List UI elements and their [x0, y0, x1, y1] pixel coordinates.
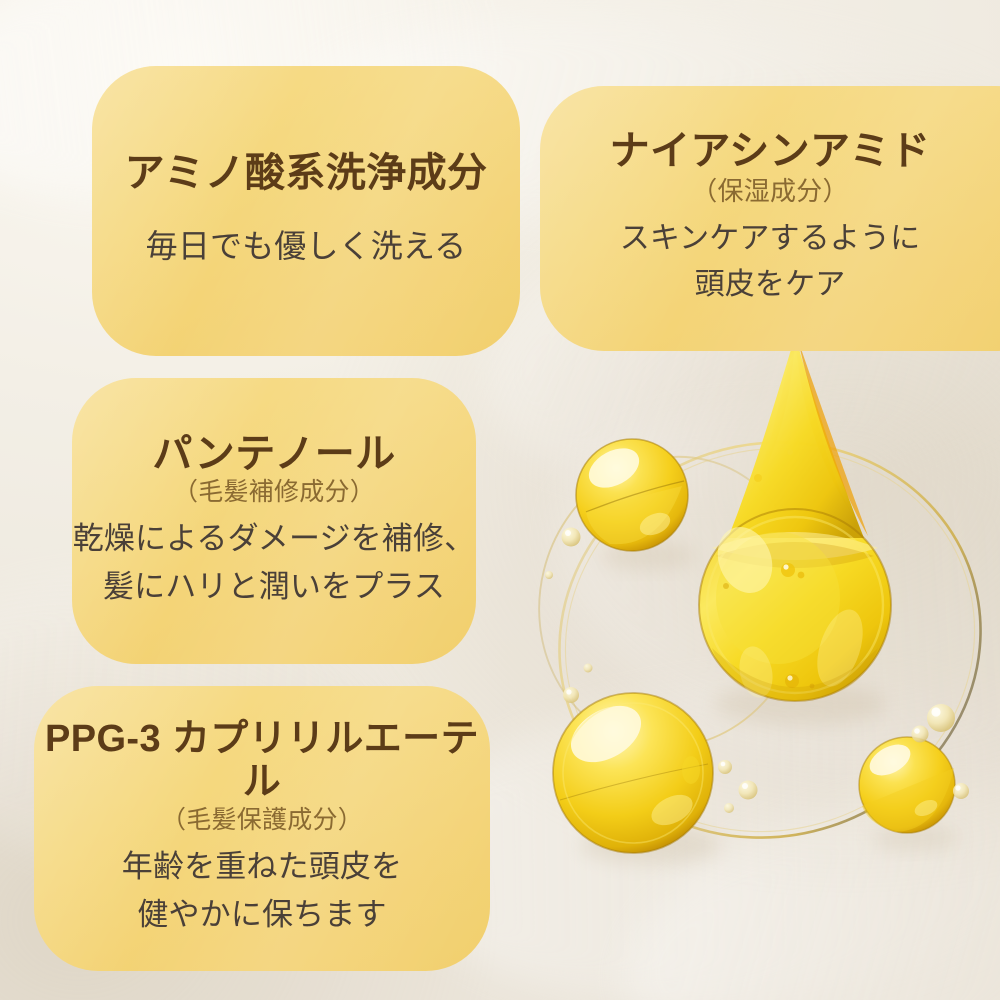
card-body-line: 健やかに保ちます — [137, 891, 386, 939]
card-body-line: 頭皮をケア — [695, 262, 846, 309]
poster-canvas: アミノ酸系洗浄成分 毎日でも優しく洗える ナイアシンアミド （保湿成分） スキン… — [0, 0, 1000, 1000]
card-subtitle: （保湿成分） — [691, 176, 849, 207]
card-title: PPG-3 カプリリルエーテル — [34, 718, 490, 805]
card-body-line: 年齢を重ねた頭皮を — [122, 843, 402, 891]
ingredient-card-niacinamide[interactable]: ナイアシンアミド （保湿成分） スキンケアするように 頭皮をケア — [540, 86, 1000, 351]
card-body-line: 髪にハリと潤いをプラス — [103, 563, 445, 611]
ingredient-card-amino-acid[interactable]: アミノ酸系洗浄成分 毎日でも優しく洗える — [92, 66, 520, 356]
card-body-line: 乾燥によるダメージを補修、 — [73, 515, 476, 563]
ingredient-card-panthenol[interactable]: パンテノール （毛髪補修成分） 乾燥によるダメージを補修、 髪にハリと潤いをプラ… — [72, 378, 476, 664]
card-sheen — [92, 66, 520, 356]
card-subtitle: （毛髪補修成分） — [173, 477, 375, 507]
card-body-line: スキンケアするように — [620, 216, 921, 263]
card-title: パンテノール — [152, 431, 395, 477]
card-title: アミノ酸系洗浄成分 — [125, 150, 488, 196]
card-body-line: 毎日でも優しく洗える — [146, 222, 467, 272]
card-title: ナイアシンアミド — [610, 128, 931, 174]
ingredient-card-ppg3-caprylyl-ether[interactable]: PPG-3 カプリリルエーテル （毛髪保護成分） 年齢を重ねた頭皮を 健やかに保… — [34, 686, 490, 971]
card-subtitle: （毛髪保護成分） — [161, 805, 363, 835]
